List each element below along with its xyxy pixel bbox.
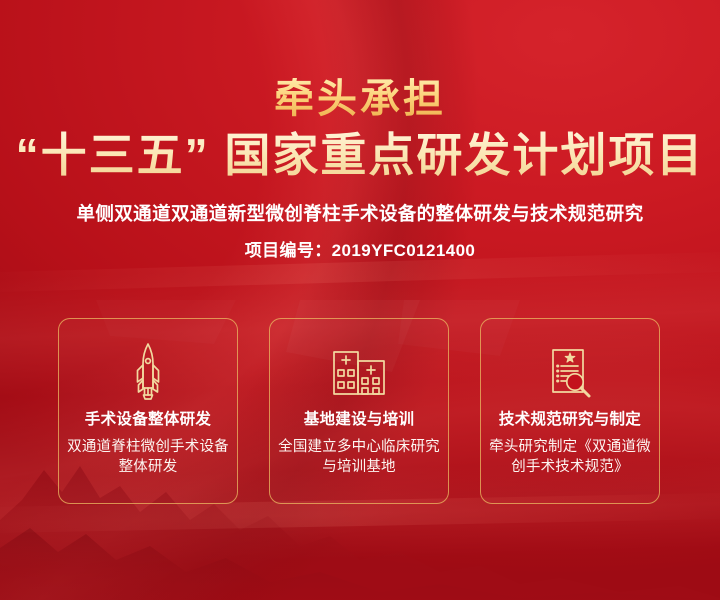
banner-header: 牵头承担 “十三五” 国家重点研发计划项目 单侧双通道双通道新型微创脊柱手术设备… (0, 0, 720, 261)
hospital-building-icon (330, 341, 388, 403)
project-number: 项目编号：2019YFC0121400 (0, 236, 720, 261)
feature-card-3-title: 技术规范研究与制定 (499, 411, 641, 430)
rocket-icon (127, 341, 169, 403)
feature-card-1[interactable]: 手术设备整体研发 双通道脊柱微创手术设备整体研发 (58, 318, 238, 504)
feature-card-3[interactable]: 技术规范研究与制定 牵头研究制定《双通道微创手术技术规范》 (480, 318, 660, 504)
project-subtitle: 单侧双通道双通道新型微创脊柱手术设备的整体研发与技术规范研究 (0, 200, 720, 226)
feature-card-1-desc: 双通道脊柱微创手术设备整体研发 (59, 437, 237, 478)
feature-card-1-title: 手术设备整体研发 (85, 411, 211, 430)
feature-card-list: 手术设备整体研发 双通道脊柱微创手术设备整体研发 (58, 318, 662, 504)
eyebrow-text: 牵头承担 (0, 78, 720, 120)
feature-card-2[interactable]: 基地建设与培训 全国建立多中心临床研究与培训基地 (269, 318, 449, 504)
feature-card-3-desc: 牵头研究制定《双通道微创手术技术规范》 (481, 437, 659, 478)
document-magnifier-icon (543, 341, 597, 403)
feature-card-2-title: 基地建设与培训 (304, 411, 415, 430)
banner-poster: 牵头承担 “十三五” 国家重点研发计划项目 单侧双通道双通道新型微创脊柱手术设备… (0, 0, 720, 600)
feature-card-2-desc: 全国建立多中心临床研究与培训基地 (270, 437, 448, 478)
page-title: “十三五” 国家重点研发计划项目 (0, 130, 720, 182)
